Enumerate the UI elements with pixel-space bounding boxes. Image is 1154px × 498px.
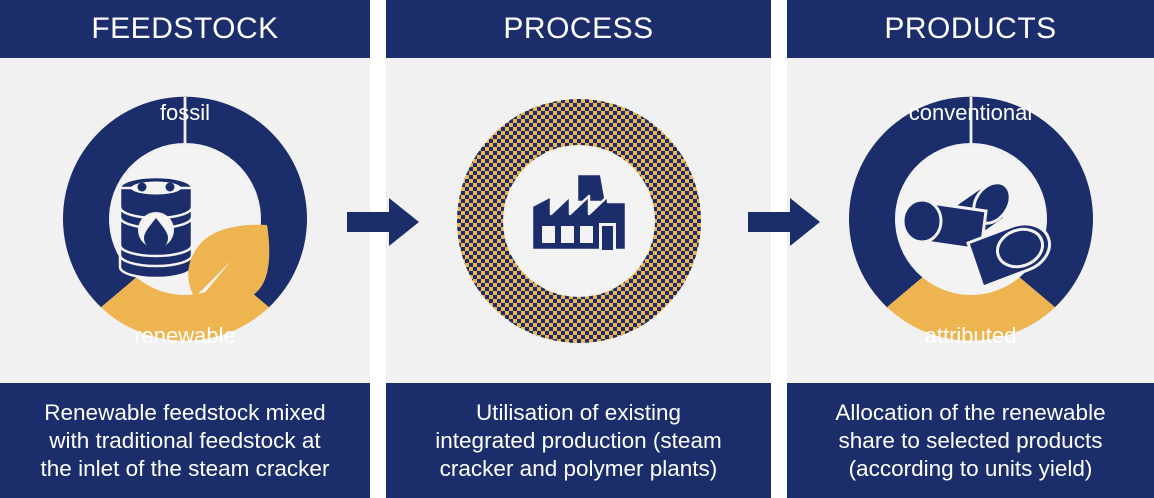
- donut-feedstock-svg: [35, 71, 335, 371]
- panel-process: PROCESS: [386, 0, 771, 498]
- panel-header-process: PROCESS: [386, 0, 771, 58]
- donut-products: conventional attributed: [821, 71, 1121, 371]
- panel-products: PRODUCTS: [787, 0, 1154, 498]
- panel-caption-products: Allocation of the renewable share to sel…: [787, 383, 1154, 498]
- panel-caption-feedstock: Renewable feedstock mixed with tradition…: [0, 383, 370, 498]
- mass-balance-infographic: FEEDSTOCK: [0, 0, 1154, 498]
- donut-feedstock: fossil renewable: [35, 71, 335, 371]
- panel-body-feedstock: fossil renewable: [0, 58, 370, 383]
- panel-header-feedstock: FEEDSTOCK: [0, 0, 370, 58]
- donut-tick-marker: [184, 97, 187, 145]
- panel-caption-process: Utilisation of existing integrated produ…: [386, 383, 771, 498]
- panel-body-process: [386, 58, 771, 383]
- arrow-process-to-products: [748, 196, 820, 248]
- donut-process-svg: [429, 71, 729, 371]
- panel-feedstock: FEEDSTOCK: [0, 0, 370, 498]
- oil-barrel-icon: [120, 177, 192, 278]
- arrow-feedstock-to-process: [347, 196, 419, 248]
- donut-tick-marker: [969, 97, 972, 145]
- donut-products-svg: [821, 71, 1121, 371]
- panel-body-products: conventional attributed: [787, 58, 1154, 383]
- panel-header-products: PRODUCTS: [787, 0, 1154, 58]
- donut-process: [429, 71, 729, 371]
